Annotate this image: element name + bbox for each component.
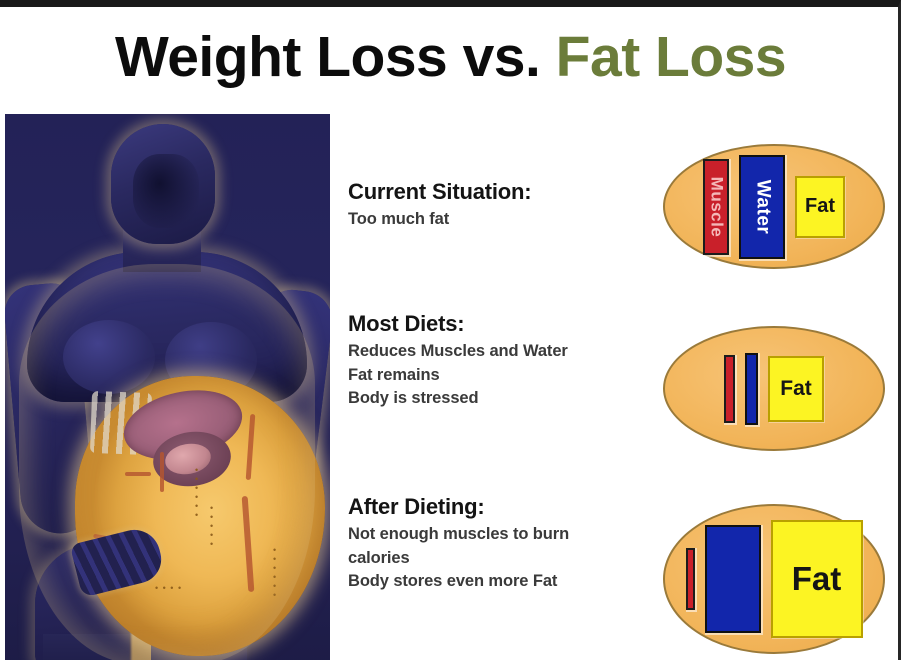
section-line: Too much fat bbox=[348, 208, 648, 231]
page-title: Weight Loss vs. Fat Loss bbox=[0, 7, 901, 107]
infographic-poster: Weight Loss vs. Fat Loss • • • • • • • •… bbox=[0, 0, 901, 660]
muscle-bar: Muscle bbox=[703, 159, 729, 255]
figure-left-leg bbox=[43, 634, 129, 660]
muscle-bar bbox=[686, 548, 695, 610]
text-column: Current Situation: Too much fat Most Die… bbox=[348, 114, 648, 660]
title-text: Weight Loss vs. Fat Loss bbox=[115, 29, 786, 86]
figure-fat-dots-4: • • • • bbox=[155, 584, 182, 593]
water-bar: Water bbox=[739, 155, 785, 259]
diagram-after-dieting: Fat bbox=[655, 504, 888, 654]
body-composition-diagrams: Muscle Water Fat Fat bbox=[655, 114, 898, 660]
composition-bars: Muscle Water Fat bbox=[663, 144, 885, 269]
title-part-weight-loss: Weight Loss vs. bbox=[115, 25, 556, 89]
figure-fat-dots-1: • • • • • • bbox=[195, 466, 199, 520]
fat-box: Fat bbox=[795, 176, 845, 238]
figure-chest-left bbox=[63, 320, 155, 394]
section-line: Fat remains bbox=[348, 364, 648, 387]
section-heading: Most Diets: bbox=[348, 311, 648, 336]
muscle-bar bbox=[724, 355, 735, 423]
figure-face-shading bbox=[133, 154, 199, 228]
section-line: Body is stressed bbox=[348, 387, 648, 410]
section-after-dieting: After Dieting: Not enough muscles to bur… bbox=[348, 494, 648, 594]
fat-label: Fat bbox=[805, 195, 835, 218]
water-bar bbox=[705, 525, 761, 633]
composition-bars: Fat bbox=[663, 504, 885, 654]
fat-label: Fat bbox=[792, 560, 842, 598]
section-line: Not enough muscles to burn bbox=[348, 523, 648, 546]
section-current-situation: Current Situation: Too much fat bbox=[348, 179, 648, 232]
composition-bars: Fat bbox=[663, 326, 885, 451]
fat-box: Fat bbox=[771, 520, 863, 638]
section-line: Reduces Muscles and Water bbox=[348, 340, 648, 363]
title-part-fat-loss: Fat Loss bbox=[556, 25, 786, 89]
section-line: calories bbox=[348, 547, 648, 570]
obese-figure-illustration: • • • • • • • • • • • • • • • • • • • • … bbox=[5, 114, 330, 660]
section-heading: After Dieting: bbox=[348, 494, 648, 519]
figure-vein-3 bbox=[160, 452, 164, 492]
section-most-diets: Most Diets: Reduces Muscles and Water Fa… bbox=[348, 311, 648, 411]
diagram-current-situation: Muscle Water Fat bbox=[655, 144, 888, 269]
figure-fat-dots-2: • • • • • bbox=[210, 504, 214, 549]
water-label: Water bbox=[751, 179, 773, 234]
figure-fat-dots-3: • • • • • • bbox=[273, 546, 277, 600]
diagram-most-diets: Fat bbox=[655, 326, 888, 451]
fat-label: Fat bbox=[780, 377, 812, 401]
figure-vein-4 bbox=[125, 472, 151, 476]
section-line: Body stores even more Fat bbox=[348, 570, 648, 593]
section-heading: Current Situation: bbox=[348, 179, 648, 204]
fat-box: Fat bbox=[768, 356, 824, 422]
water-bar bbox=[745, 353, 758, 425]
muscle-label: Muscle bbox=[706, 176, 726, 237]
